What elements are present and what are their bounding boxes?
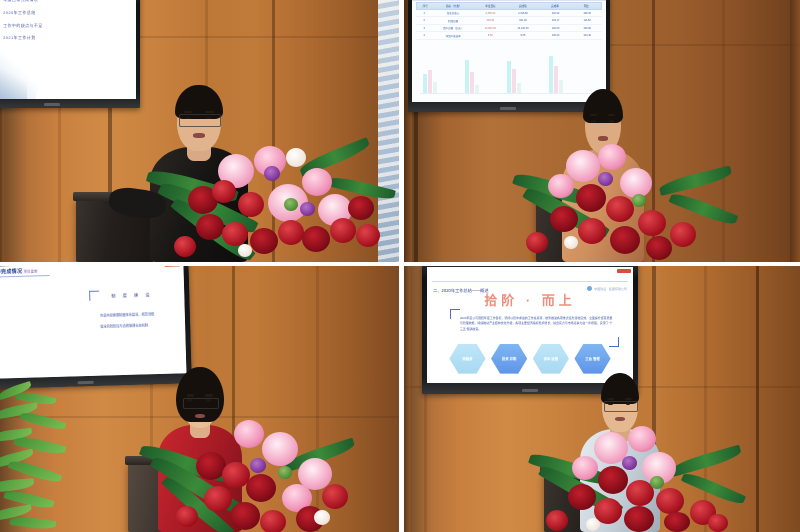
flower	[250, 458, 266, 473]
slide-document: 工作完成情况·项目建制 制 度 建 设 完善内控管理制度体系建设，规范流程 健全…	[0, 266, 186, 379]
potted-plant	[0, 378, 90, 532]
slide-subtitle: ·项目建制	[22, 270, 37, 274]
flower	[348, 196, 374, 220]
bar	[512, 69, 516, 94]
glasses-icon	[604, 401, 638, 412]
hexagon-label: 三会 管理	[585, 357, 600, 361]
table-cell: 2,350.00	[474, 10, 508, 16]
red-flower-bouquet	[150, 418, 350, 532]
person-eye	[609, 120, 614, 123]
bar	[517, 83, 521, 93]
table-cell: 104.17	[539, 18, 573, 24]
flower	[278, 220, 304, 245]
speaker-1-panel: 年度目标完成情况 2020年工作总结 工作中的缺点与不足 2021年工作计划	[0, 0, 399, 262]
wall-edge	[404, 266, 410, 532]
slide-rule	[432, 281, 628, 282]
hexagon-item[interactable]: 再融资	[449, 344, 485, 374]
flower	[568, 484, 596, 510]
hexagon-label: 再融资	[462, 357, 472, 361]
flower	[576, 184, 606, 212]
glasses-icon	[179, 114, 220, 126]
slide-line: 年度目标完成情况	[3, 0, 38, 3]
table-row: 1 营业总收入 2,350.00 2,418.60 102.92 108.30	[416, 10, 602, 17]
bar-group	[549, 56, 563, 93]
table-col-header: 序号	[417, 3, 434, 9]
person-brow	[625, 398, 632, 400]
slide-table-chart: 一、年度目标完成情况达成率指标对比表（统计图） 序号 指标（大类） 年度目标 完…	[412, 0, 606, 102]
table-cell: 2	[416, 18, 433, 24]
flower	[250, 228, 278, 254]
table-cell: 105.23	[539, 33, 573, 39]
table-row: 3 资产总额（亿元） 12,800.00 13,120.00 102.50 10…	[416, 25, 602, 32]
hexagon-item[interactable]: 三会 管理	[574, 344, 610, 374]
slide-bullet: 完善内控管理制度体系建设，规范流程	[100, 311, 154, 318]
flower	[622, 456, 637, 470]
flower	[598, 144, 626, 170]
table-col-header: 年度目标	[474, 3, 507, 9]
slide-title-main: 工作完成情况	[0, 269, 22, 276]
flower	[638, 210, 666, 236]
bar	[465, 60, 469, 93]
bar	[549, 56, 553, 93]
flower	[708, 514, 728, 532]
speaker-4-panel: 二、2020年工作总结——概述 中国建设 · 集团有限公司 拾阶 · 而上 20…	[404, 266, 800, 532]
tv-logo	[44, 103, 60, 106]
flower	[550, 206, 578, 232]
glasses-icon	[183, 398, 219, 410]
flower	[314, 510, 330, 525]
table-col-header: 同比	[572, 3, 601, 9]
table-cell: 4	[416, 33, 433, 39]
bar	[507, 61, 511, 93]
bracket-top-left	[450, 309, 460, 319]
table-cell: 111.50	[572, 18, 602, 24]
foliage	[284, 198, 298, 211]
flower	[322, 484, 348, 509]
flower	[356, 224, 380, 247]
hexagon-row: 再融资 投资 并购 资本 运营 三会 管理	[439, 341, 620, 376]
flower	[230, 502, 260, 530]
flower	[212, 180, 236, 203]
flower	[196, 214, 224, 240]
flower	[610, 226, 640, 254]
slide-section-cover: 二、2020年工作总结——概述 中国建设 · 集团有限公司 拾阶 · 而上 20…	[427, 267, 633, 383]
flower	[246, 474, 276, 502]
table-cell: 8.60	[474, 33, 508, 39]
flower	[598, 172, 613, 186]
slide-bracket	[90, 291, 100, 301]
flower	[670, 222, 696, 247]
table-row: 4 净资产收益率 8.60 9.05 105.23 103.40	[416, 33, 602, 40]
slide-heading: 制 度 建 设	[111, 292, 152, 299]
slide-line: 2020年工作总结	[3, 10, 36, 16]
flower	[330, 218, 356, 243]
bar	[428, 70, 432, 93]
table-col-header: 完成值	[507, 3, 538, 9]
table-cell: 1	[416, 10, 433, 16]
person-mouth	[193, 133, 205, 138]
wall-seam	[756, 266, 759, 532]
person-brow	[607, 398, 614, 400]
table-col-header: 指标（大类）	[433, 3, 474, 9]
table-cell: 3	[416, 25, 433, 31]
tv-logo	[522, 389, 538, 392]
slide-headline: 拾阶 · 而上	[427, 290, 633, 309]
person-eye	[591, 120, 596, 123]
bar	[475, 85, 479, 93]
table-cell: 2,418.60	[507, 10, 539, 16]
table-cell: 利润总额	[433, 18, 474, 24]
person-mouth	[615, 417, 625, 421]
table-cell: 13,120.00	[507, 25, 539, 31]
bar	[423, 74, 427, 93]
table-cell: 净资产收益率	[433, 33, 474, 39]
table-cell: 331.26	[507, 18, 539, 24]
screen-surface: 二、2020年工作总结——概述 中国建设 · 集团有限公司 拾阶 · 而上 20…	[427, 267, 633, 383]
wall-edge	[790, 0, 800, 262]
flower	[176, 506, 198, 527]
leaf	[10, 515, 57, 531]
slide-corner-badge	[617, 269, 631, 272]
red-flower-bouquet	[150, 140, 390, 262]
flower	[174, 236, 196, 257]
bar	[554, 66, 558, 93]
person-brow	[205, 394, 213, 396]
flower	[262, 432, 298, 466]
flower	[566, 150, 600, 182]
flower	[234, 420, 264, 448]
table-cell: 资产总额（亿元）	[433, 25, 474, 31]
flower	[222, 222, 248, 246]
foliage	[632, 194, 646, 207]
table-cell: 103.40	[572, 33, 602, 39]
flower	[606, 196, 634, 222]
table-col-header: 完成率	[538, 3, 571, 9]
flower	[598, 466, 628, 494]
speaker-2-panel: 一、年度目标完成情况达成率指标对比表（统计图） 序号 指标（大类） 年度目标 完…	[404, 0, 800, 262]
table-cell: 12,800.00	[474, 25, 508, 31]
flower	[548, 174, 574, 198]
foliage	[278, 466, 292, 479]
speaker-3-panel: 工作完成情况·项目建制 制 度 建 设 完善内控管理制度体系建设，规范流程 健全…	[0, 266, 399, 532]
hexagon-item[interactable]: 投资 并购	[491, 344, 527, 374]
presentation-screen-hexagons[interactable]: 二、2020年工作总结——概述 中国建设 · 集团有限公司 拾阶 · 而上 20…	[422, 266, 638, 394]
bar-group	[423, 56, 437, 93]
table-cell: 营业总收入	[433, 10, 474, 16]
slide-paragraph: 2020年度公司围绕年度工作目标，坚持以稳中求进的工作总基调，统筹推进各项重点任…	[460, 316, 612, 333]
palm-leaf	[670, 445, 743, 477]
photo-collage: 年度目标完成情况 2020年工作总结 工作中的缺点与不足 2021年工作计划	[0, 0, 800, 532]
slide-line: 工作中的缺点与不足	[3, 23, 43, 29]
red-flower-bouquet	[520, 140, 716, 262]
hexagon-label: 投资 并购	[502, 357, 517, 361]
table-cell: 102.92	[539, 10, 573, 16]
table-header-row: 序号 指标（大类） 年度目标 完成值 完成率 同比	[416, 2, 602, 10]
table-cell: 9.05	[507, 33, 539, 39]
screen-surface: 一、年度目标完成情况达成率指标对比表（统计图） 序号 指标（大类） 年度目标 完…	[412, 0, 606, 102]
flower	[628, 426, 656, 452]
flower	[564, 236, 578, 249]
flower	[238, 244, 252, 257]
flower	[586, 518, 600, 531]
flower	[260, 510, 286, 532]
flower	[546, 510, 568, 531]
bar-group	[507, 56, 521, 93]
flower	[526, 232, 548, 253]
flower	[302, 168, 332, 196]
slide-bullet: 健全风险防控与合规管理长效机制	[100, 323, 148, 329]
flower	[572, 456, 598, 480]
presentation-screen-bullets[interactable]: 年度目标完成情况 2020年工作总结 工作中的缺点与不足 2021年工作计划	[0, 0, 140, 108]
screen-glare	[0, 59, 27, 99]
table-cell: 106.80	[572, 25, 602, 31]
foliage	[650, 476, 664, 489]
slide-rule	[0, 275, 50, 278]
person-brow	[187, 394, 195, 396]
bar-chart	[420, 56, 595, 93]
flower	[578, 218, 606, 244]
table-cell: 318.00	[474, 18, 508, 24]
flower	[646, 236, 672, 260]
flower	[624, 506, 654, 532]
slide-corner-badge	[165, 266, 181, 267]
leaf	[0, 478, 34, 492]
flower	[302, 226, 330, 252]
red-flower-bouquet	[538, 426, 734, 532]
person-brow	[184, 111, 193, 113]
person-hair	[583, 89, 622, 123]
flower	[264, 166, 280, 181]
bar	[470, 72, 474, 94]
flower	[238, 192, 264, 217]
data-table: 序号 指标（大类） 年度目标 完成值 完成率 同比 1 营业总收入 2,350.…	[416, 2, 602, 39]
flower	[286, 148, 306, 167]
flower	[656, 488, 684, 514]
screen-surface: 年度目标完成情况 2020年工作总结 工作中的缺点与不足 2021年工作计划	[0, 0, 136, 99]
hexagon-item[interactable]: 资本 运营	[533, 344, 569, 374]
table-cell: 108.30	[572, 10, 602, 16]
slide-header	[412, 0, 606, 1]
screen-surface: 工作完成情况·项目建制 制 度 建 设 完善内控管理制度体系建设，规范流程 健全…	[0, 266, 186, 379]
table-row: 2 利润总额 318.00 331.26 104.17 111.50	[416, 18, 602, 25]
flower	[664, 512, 690, 532]
table-cell: 102.50	[539, 25, 573, 31]
person-brow	[205, 111, 214, 113]
flower	[300, 202, 315, 216]
flower	[204, 486, 232, 512]
bar-group	[465, 56, 479, 93]
hexagon-label: 资本 运营	[544, 357, 559, 361]
tv-logo	[500, 107, 516, 110]
slide-bullets: 年度目标完成情况 2020年工作总结 工作中的缺点与不足 2021年工作计划	[0, 0, 136, 99]
bar	[433, 82, 437, 93]
